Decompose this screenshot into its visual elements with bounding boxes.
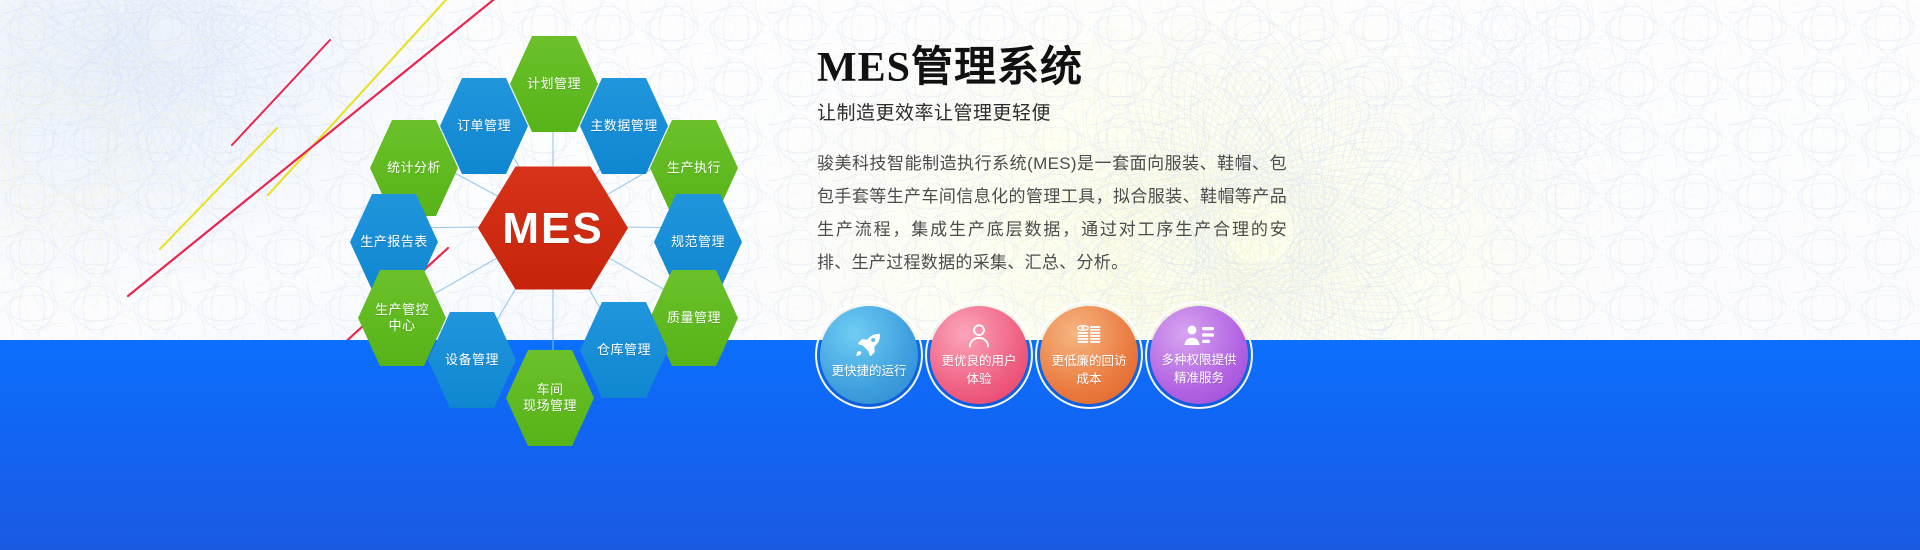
user-list-icon <box>1183 323 1215 349</box>
hex-node-7-label: 生产管控中心 <box>369 302 435 335</box>
hex-node-4-label: 生产执行 <box>661 160 727 176</box>
badge-faster-operation[interactable]: 更快捷的运行 <box>820 306 918 404</box>
page-title: MES管理系统 <box>817 46 1287 90</box>
badge-better-user-experience-label: 更优良的用户体验 <box>933 352 1024 388</box>
coins-icon <box>1074 322 1104 350</box>
badge-lower-revisit-cost[interactable]: 更低廉的回访成本 <box>1040 306 1138 404</box>
content-column: MES管理系统 让制造更效率让管理更轻便 骏美科技智能制造执行系统(MES)是一… <box>817 46 1287 279</box>
badge-multi-permission-label: 多种权限提供精准服务 <box>1153 351 1244 387</box>
badge-faster-operation-label: 更快捷的运行 <box>823 362 914 380</box>
page-subtitle: 让制造更效率让管理更轻便 <box>817 98 1287 125</box>
hex-node-0-label: 计划管理 <box>521 76 587 92</box>
hex-node-11-label: 车间现场管理 <box>517 382 583 415</box>
mes-hexagon-diagram: 计划管理 订单管理 主数据管理 统计分析 生产执行 生产报告表 规范管理 生产管… <box>0 0 820 470</box>
user-icon <box>965 322 993 350</box>
page-description: 骏美科技智能制造执行系统(MES)是一套面向服装、鞋帽、包包手套等生产车间信息化… <box>817 147 1287 279</box>
hex-node-6-label: 规范管理 <box>665 234 731 250</box>
hex-node-2-label: 主数据管理 <box>584 118 664 134</box>
hex-node-9-label: 设备管理 <box>439 352 505 368</box>
feature-badges: 更快捷的运行 更优良的用户体验 <box>820 306 1248 404</box>
badge-multi-permission[interactable]: 多种权限提供精准服务 <box>1150 306 1248 404</box>
hex-node-8-label: 质量管理 <box>661 310 727 326</box>
hex-node-1-label: 订单管理 <box>451 118 517 134</box>
mes-banner: 计划管理 订单管理 主数据管理 统计分析 生产执行 生产报告表 规范管理 生产管… <box>0 0 1920 550</box>
rocket-icon <box>854 330 884 360</box>
hex-core-label: MES <box>496 201 609 256</box>
hex-node-3-label: 统计分析 <box>381 160 447 176</box>
hex-node-5-label: 生产报告表 <box>354 234 434 250</box>
hex-node-10-label: 仓库管理 <box>591 342 657 358</box>
badge-lower-revisit-cost-label: 更低廉的回访成本 <box>1043 352 1134 388</box>
badge-better-user-experience[interactable]: 更优良的用户体验 <box>930 306 1028 404</box>
